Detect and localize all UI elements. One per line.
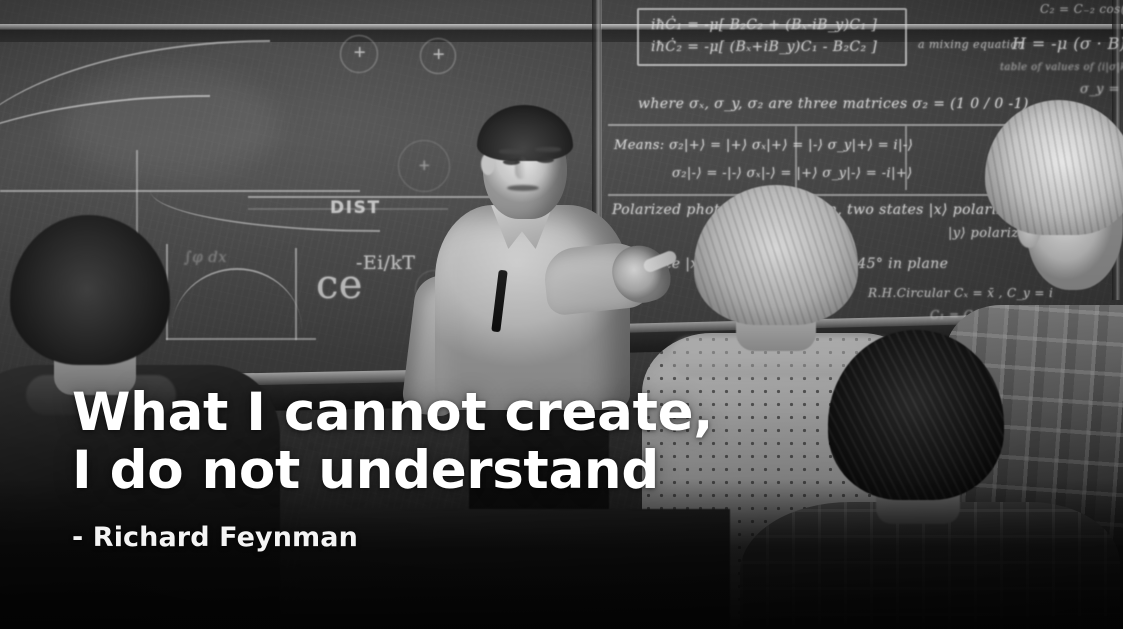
- chalk-equation-2: iħĊ₂ = -μ[ (Bₓ+iB_y)C₁ - B₂C₂ ]: [651, 39, 893, 55]
- chalk-boxed-equations: iħĊ₁ = -μ[ B₂C₂ + (Bₓ-iB_y)C₁ ] iħĊ₂ = -…: [637, 8, 907, 66]
- chalk-plus-sign: +: [353, 42, 367, 61]
- lecturer-nose: [515, 157, 527, 179]
- lecturer-hair: [477, 105, 573, 161]
- lecturer-eye: [537, 157, 554, 163]
- student-dark-hair-texture: [828, 330, 1004, 500]
- chalk-means-line-2: σ₂|-⟩ = -|-⟩ σₓ|-⟩ = |+⟩ σ_y|-⟩ = -i|+⟩: [672, 166, 913, 181]
- quote-line-2: I do not understand: [72, 442, 852, 500]
- chalk-hamiltonian: H = -μ (σ · B): [1012, 34, 1123, 53]
- lecturer-eyebrow: [499, 149, 525, 154]
- chalk-top-right-note: C₂ = C₋₂ cos(...): [1040, 2, 1123, 16]
- quote-attribution: - Richard Feynman: [72, 522, 852, 554]
- quote-overlay: What I cannot create, I do not understan…: [72, 384, 852, 554]
- lecturer-eyebrow: [535, 147, 561, 152]
- chalk-label-dist: DIST: [330, 198, 381, 218]
- student-left-hair: [10, 215, 170, 365]
- chalk-mixing-label: a mixing equation: [918, 38, 1025, 51]
- quote-line-1: What I cannot create,: [72, 384, 852, 442]
- quote-image: DIST ∫φ dx ce -Ei/kT + + + + iħĊ₁ = -μ[ …: [0, 0, 1123, 629]
- chalk-sigma-y-matrix: σ_y = (0 -i / i 0): [1080, 82, 1123, 97]
- blackboard-top-rail: [0, 24, 1123, 29]
- lecturer-mouth: [507, 185, 539, 191]
- chalk-matrix-element-label: table of values of ⟨i|σ|k⟩: [1000, 62, 1123, 73]
- student-blonde-hair-texture: [694, 185, 858, 325]
- chalk-equation-1: iħĊ₁ = -μ[ B₂C₂ + (Bₓ-iB_y)C₁ ]: [651, 17, 893, 33]
- lecturer-feynman: [395, 95, 665, 405]
- student-right-hair-texture: [985, 100, 1123, 235]
- chalk-plus-sign: +: [432, 44, 446, 63]
